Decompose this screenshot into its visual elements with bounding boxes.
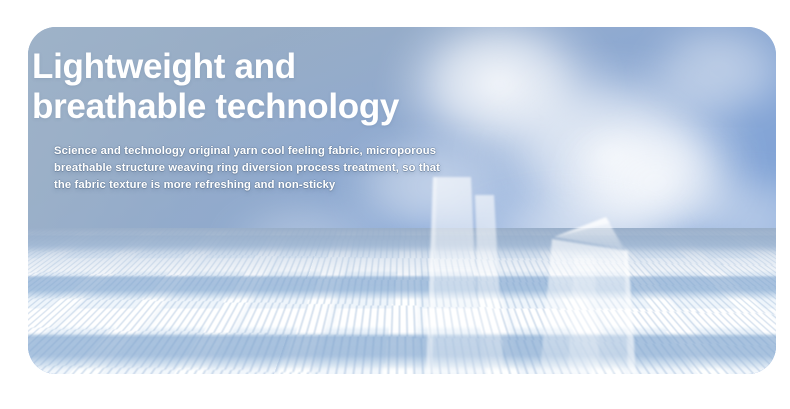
fabric-texture [28, 228, 776, 374]
banner-copy: Lightweight and breathable technology Sc… [28, 27, 440, 194]
page-title: Lightweight and breathable technology [32, 47, 440, 127]
promo-banner: Lightweight and breathable technology Sc… [28, 27, 776, 374]
banner-description: Science and technology original yarn coo… [54, 143, 440, 194]
fabric-distance-fade [28, 228, 776, 282]
